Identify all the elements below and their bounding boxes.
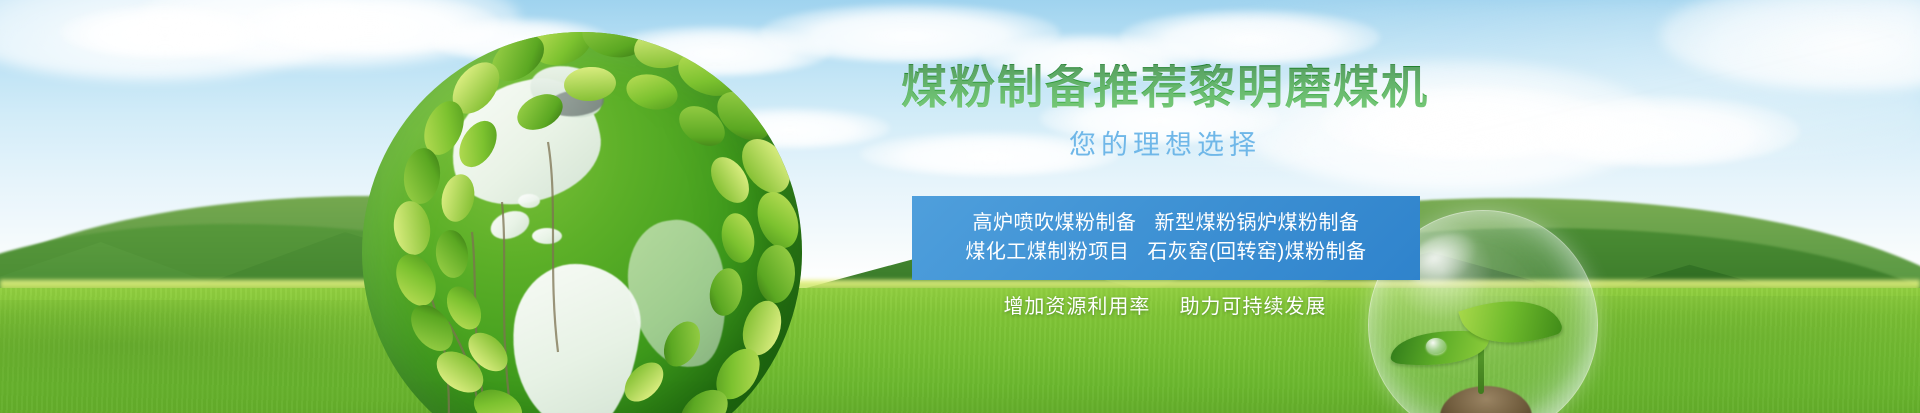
dew-drop-icon [1426,338,1446,354]
tagline-right: 助力可持续发展 [1180,296,1327,318]
banner-headline: 煤粉制备推荐黎明磨煤机 [870,64,1460,110]
promo-banner: 煤粉制备推荐黎明磨煤机 您的理想选择 高炉喷吹煤粉制备 新型煤粉锅炉煤粉制备 煤… [0,0,1920,413]
feature-row: 高炉喷吹煤粉制备 新型煤粉锅炉煤粉制备 [912,209,1420,238]
feature-item: 石灰窑(回转窑)煤粉制备 [1147,238,1366,267]
banner-tagline: 增加资源利用率 助力可持续发展 [870,290,1460,319]
feature-item: 新型煤粉锅炉煤粉制备 [1155,209,1360,238]
green-leaf-globe-graphic [352,22,822,413]
feature-list-box: 高炉喷吹煤粉制备 新型煤粉锅炉煤粉制备 煤化工煤制粉项目 石灰窑(回转窑)煤粉制… [912,196,1420,280]
banner-subtitle: 您的理想选择 [870,132,1460,159]
feature-row: 煤化工煤制粉项目 石灰窑(回转窑)煤粉制备 [912,238,1420,267]
leaf-canopy-icon [352,22,822,413]
feature-item: 煤化工煤制粉项目 [965,238,1129,267]
tagline-left: 增加资源利用率 [1003,296,1150,318]
feature-item: 高炉喷吹煤粉制备 [973,209,1137,238]
